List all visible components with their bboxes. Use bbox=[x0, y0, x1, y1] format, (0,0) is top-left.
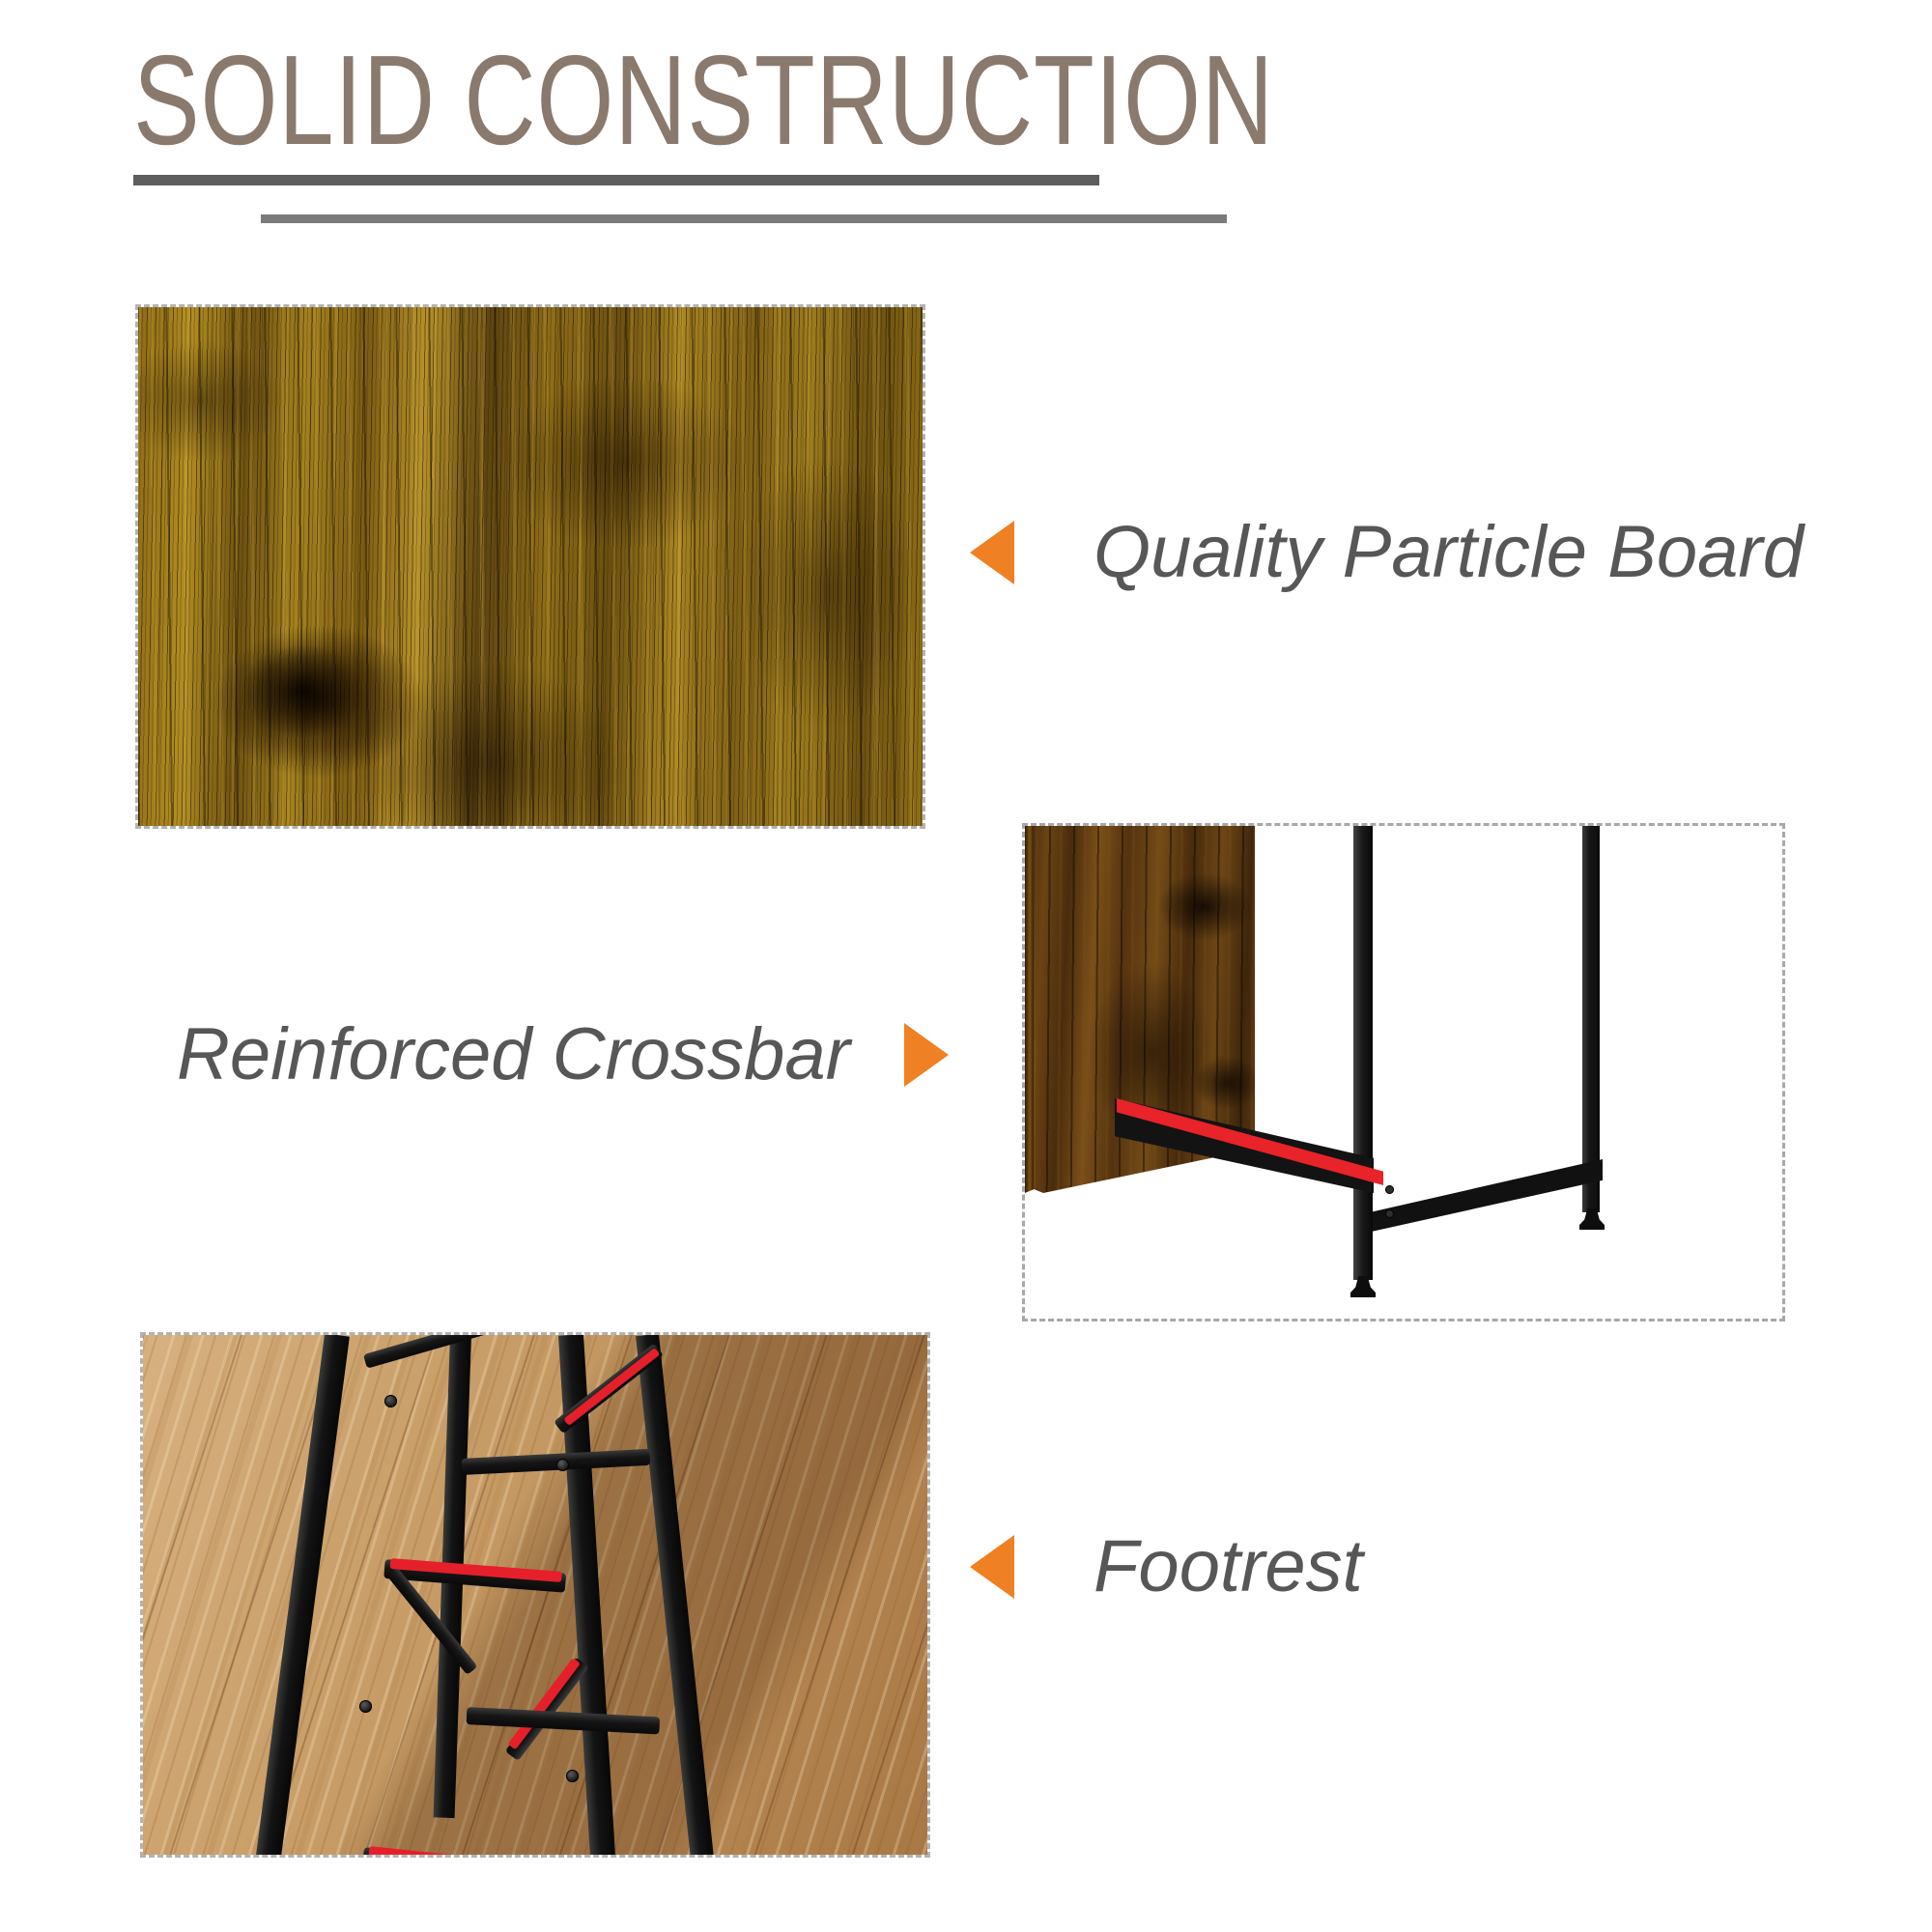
rail-screw-icon bbox=[1385, 1209, 1394, 1218]
callout-reinforced-crossbar: Reinforced Crossbar bbox=[177, 1014, 949, 1095]
stool-screw-icon bbox=[359, 1700, 372, 1713]
rail-screw-icon bbox=[1385, 1185, 1394, 1194]
stool-footrest-highlight-3 bbox=[508, 1658, 581, 1749]
particle-board-texture-image bbox=[138, 307, 923, 826]
table-leg-back bbox=[1582, 826, 1600, 1212]
stool-screw-icon bbox=[566, 1770, 579, 1782]
page-title: SOLID CONSTRUCTION bbox=[133, 37, 1274, 164]
callout-footrest: Footrest bbox=[970, 1526, 1363, 1607]
arrow-left-icon bbox=[970, 521, 1014, 584]
callout-label-footrest: Footrest bbox=[1094, 1526, 1363, 1607]
table-panel-edge bbox=[1025, 826, 1034, 1193]
table-frame-crossbar-diagram bbox=[1022, 823, 1785, 1321]
arrow-left-icon bbox=[970, 1535, 1014, 1599]
title-underline-primary bbox=[133, 175, 1099, 185]
stool-leg-back-right bbox=[636, 1335, 717, 1855]
stool-leg-front-left bbox=[241, 1335, 350, 1855]
title-underline-secondary bbox=[261, 214, 1227, 223]
stool-footrest-highlight-4 bbox=[368, 1846, 561, 1855]
callout-label-quality-particle-board: Quality Particle Board bbox=[1094, 512, 1804, 593]
table-lower-side-rail bbox=[1358, 1159, 1603, 1235]
table-leg-front bbox=[1353, 826, 1373, 1280]
stool-rung-lower-mid bbox=[467, 1707, 661, 1734]
callout-quality-particle-board: Quality Particle Board bbox=[970, 512, 1804, 593]
header-block: SOLID CONSTRUCTION bbox=[0, 0, 1932, 241]
stool-footrest-image bbox=[143, 1335, 927, 1855]
arrow-right-icon bbox=[904, 1023, 949, 1087]
callout-label-reinforced-crossbar: Reinforced Crossbar bbox=[177, 1014, 850, 1095]
stool-screw-icon bbox=[556, 1459, 569, 1471]
stool-screw-icon bbox=[384, 1395, 397, 1407]
